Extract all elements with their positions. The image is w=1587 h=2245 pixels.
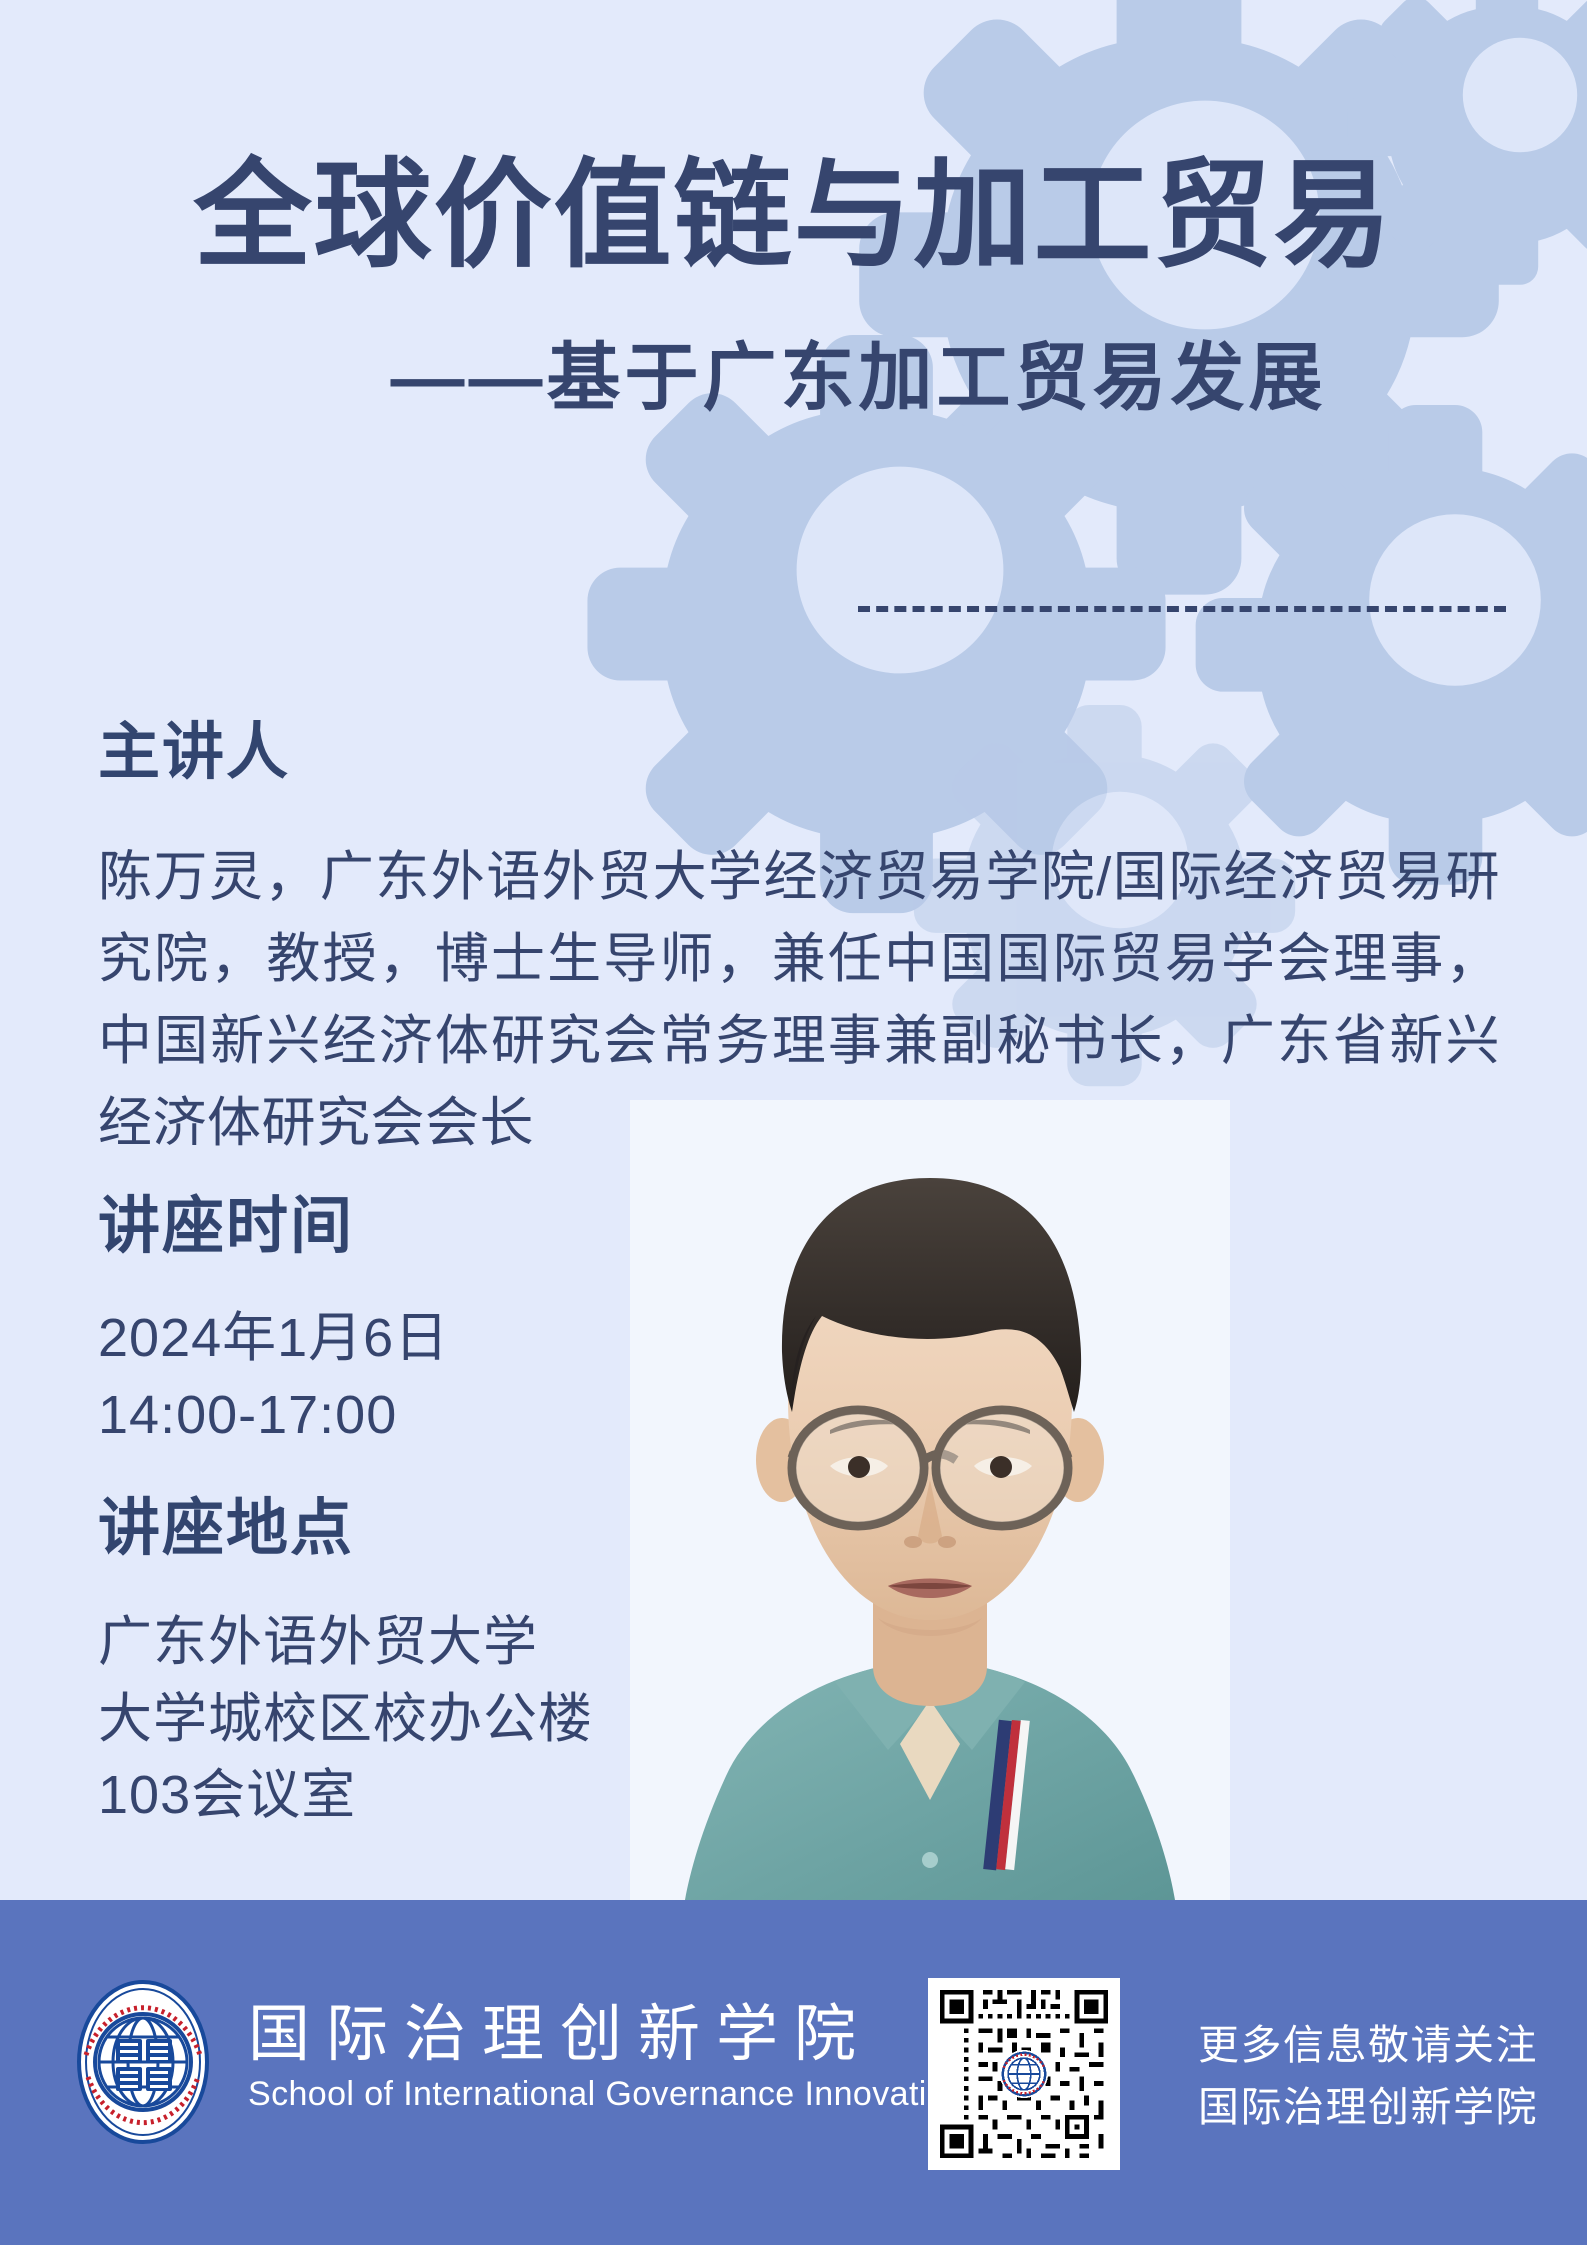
school-logo-icon [58,1977,228,2147]
title-divider-dashed-line [858,606,1506,612]
speaker-bio-text: 陈万灵，广东外语外贸大学经济贸易学院/国际经济贸易研究院，教授，博士生导师，兼任… [98,836,1500,1164]
place-section-heading: 讲座地点 [98,1498,354,1560]
time-section-heading: 讲座时间 [98,1196,354,1258]
venue-university: 广东外语外贸大学 [98,1604,593,1681]
lecture-poster: 全球价值链与加工贸易 ——基于广东加工贸易发展 主讲人 陈万灵，广东外语外贸大学… [0,0,1587,2245]
footer-note-line-2: 国际治理创新学院 [1198,2076,1538,2138]
footer-follow-note: 更多信息敬请关注 国际治理创新学院 [1198,2014,1538,2139]
school-name-en: School of International Governance Innov… [248,2075,965,2114]
lecture-date: 2024年1月6日 [98,1300,449,1377]
page-subtitle: ——基于广东加工贸易发展 [0,334,1587,423]
qr-code[interactable] [928,1978,1120,2170]
speaker-section-heading: 主讲人 [98,722,290,784]
school-name-cn: 国际治理创新学院 [248,2000,965,2069]
place-value-block: 广东外语外贸大学 大学城校区校办公楼 103会议室 [98,1604,593,1834]
venue-room: 103会议室 [98,1757,593,1834]
lecture-time-range: 14:00-17:00 [98,1377,449,1454]
time-value-block: 2024年1月6日 14:00-17:00 [98,1300,449,1453]
page-title: 全球价值链与加工贸易 [0,150,1587,282]
poster-title-block: 全球价值链与加工贸易 ——基于广东加工贸易发展 [0,150,1587,423]
venue-building: 大学城校区校办公楼 [98,1681,593,1758]
footer-brand-block: 国际治理创新学院 School of International Governa… [248,2000,965,2114]
speaker-portrait [630,1100,1230,1900]
footer-note-line-1: 更多信息敬请关注 [1198,2014,1538,2076]
